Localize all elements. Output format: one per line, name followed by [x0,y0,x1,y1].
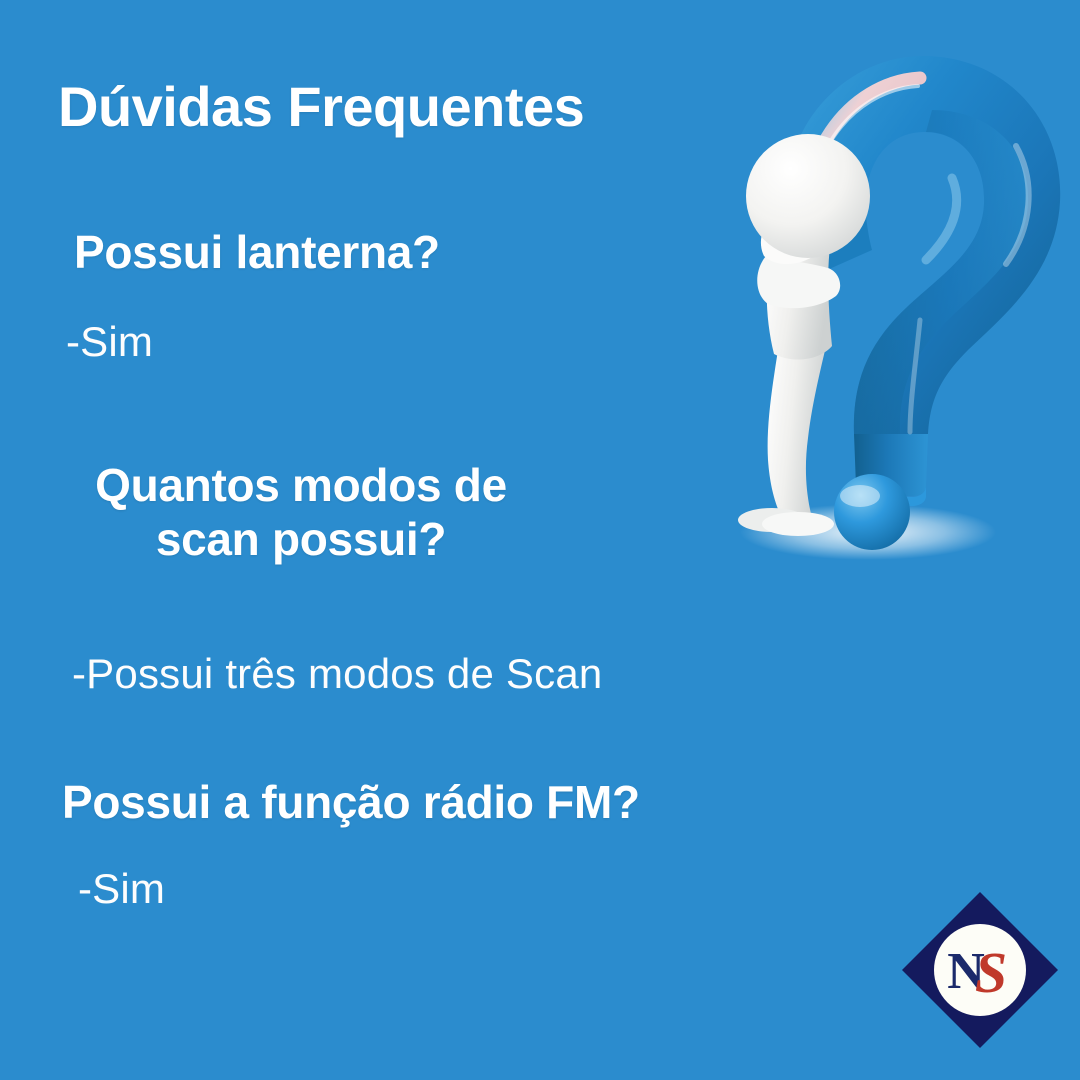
faq-question-2: Quantos modos de scan possui? [36,458,566,567]
faq-question-3: Possui a função rádio FM? [62,775,640,829]
faq-question-2-line-1: Quantos modos de [36,458,566,512]
faq-question-2-line-2: scan possui? [36,512,566,566]
page-title: Dúvidas Frequentes [58,78,584,137]
faq-poster: Dúvidas Frequentes Possui lanterna? -Sim… [0,0,1080,1080]
logo-letter-s: S [975,940,1007,1005]
faq-answer-1: -Sim [66,318,153,366]
faq-answer-3: -Sim [78,865,165,913]
faq-answer-2: -Possui três modos de Scan [72,650,602,698]
logo-monogram: N S [947,940,1007,1005]
brand-logo: N S [898,888,1062,1052]
faq-question-1: Possui lanterna? [74,225,440,279]
